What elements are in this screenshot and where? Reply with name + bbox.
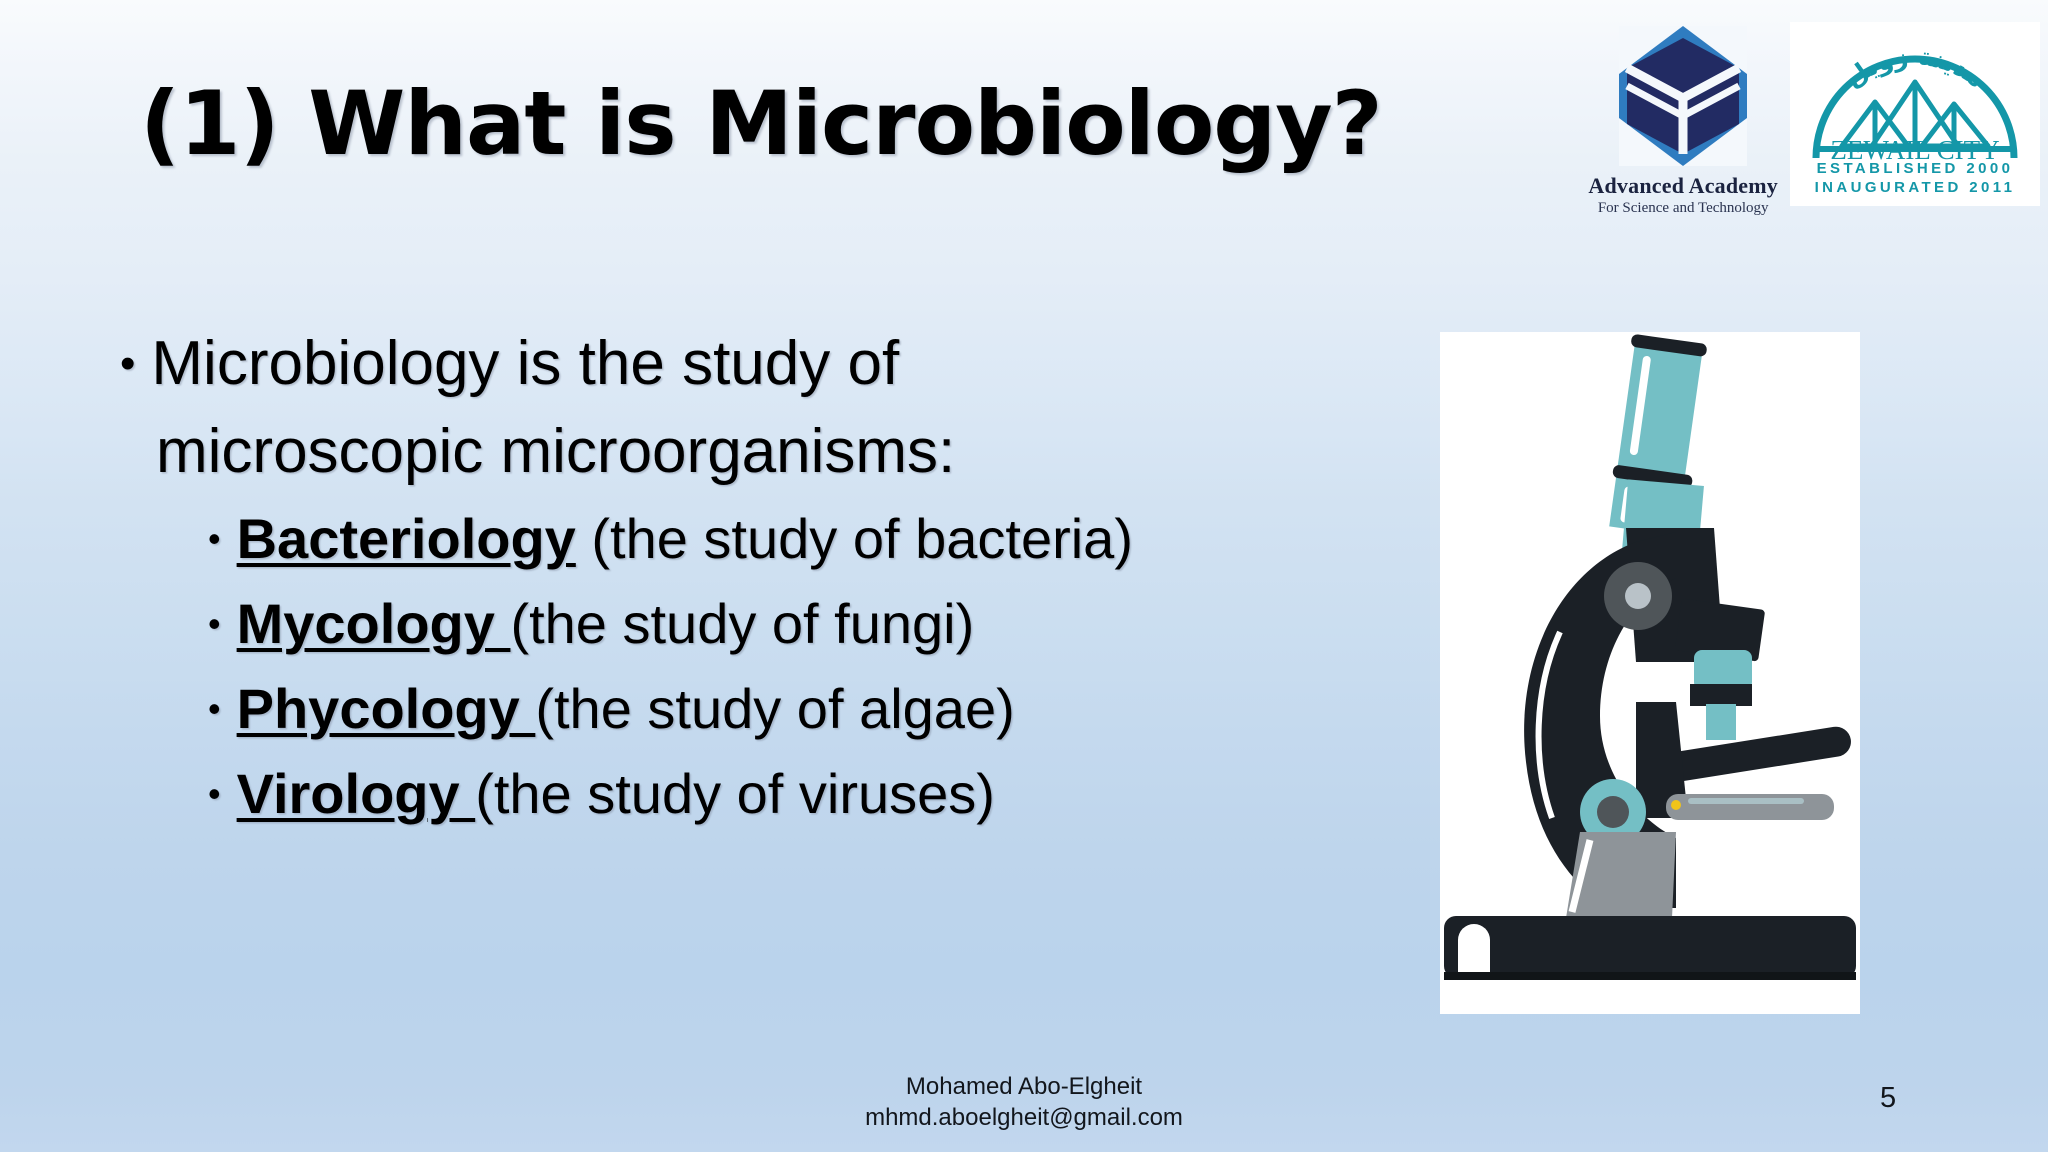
bullet-glyph: • xyxy=(208,776,221,812)
sub-bullet-mycology: • Mycology (the study of fungi) xyxy=(120,581,1410,666)
zewail-city-logo: مدينة زويل ZEWAIL CITY ESTABLISHED 2000 … xyxy=(1790,22,2040,206)
zewail-city-name: ZEWAIL CITY xyxy=(1830,135,1999,160)
microscope-illustration-icon xyxy=(1440,332,1860,1014)
term-phycology: Phycology xyxy=(237,677,536,740)
bullet-glyph: • xyxy=(208,691,221,727)
description-virology: (the study of viruses) xyxy=(475,762,995,825)
advanced-academy-subtitle: For Science and Technology xyxy=(1598,200,1769,217)
advanced-academy-name: Advanced Academy xyxy=(1588,173,1778,199)
footer-author: Mohamed Abo-Elgheit xyxy=(0,1072,2048,1103)
term-bacteriology: Bacteriology xyxy=(237,507,576,570)
content-body: • Microbiology is the study of microscop… xyxy=(120,320,1410,837)
pyramids-arc-logo-icon: مدينة زويل ZEWAIL CITY xyxy=(1802,28,2028,160)
description-bacteriology: (the study of bacteria) xyxy=(576,507,1133,570)
lead-bullet-line2: microscopic microorganisms: xyxy=(120,408,1410,496)
lead-bullet-line1: Microbiology is the study of xyxy=(151,320,899,408)
footer-email: mhmd.aboelgheit@gmail.com xyxy=(0,1103,2048,1134)
description-phycology: (the study of algae) xyxy=(535,677,1014,740)
slide-canvas: (1) What is Microbiology? Advanced Acade… xyxy=(0,0,2048,1152)
advanced-academy-logo: Advanced Academy For Science and Technol… xyxy=(1588,22,1778,217)
description-mycology: (the study of fungi) xyxy=(510,592,974,655)
zewail-inaugurated: INAUGURATED 2011 xyxy=(1815,179,2016,198)
bullet-glyph: • xyxy=(208,521,221,557)
term-mycology: Mycology xyxy=(237,592,511,655)
sub-bullet-phycology: • Phycology (the study of algae) xyxy=(120,666,1410,751)
microscope-image xyxy=(1440,332,1860,1014)
page-title: (1) What is Microbiology? xyxy=(140,78,1300,170)
zewail-established: ESTABLISHED 2000 xyxy=(1817,160,2014,179)
lead-bullet: • Microbiology is the study of xyxy=(120,320,1410,408)
sub-bullet-bacteriology: • Bacteriology (the study of bacteria) xyxy=(120,496,1410,581)
bullet-glyph: • xyxy=(120,342,135,386)
footer: Mohamed Abo-Elgheit mhmd.aboelgheit@gmai… xyxy=(0,1072,2048,1133)
bullet-glyph: • xyxy=(208,606,221,642)
hexagon-cube-logo-icon xyxy=(1615,22,1751,170)
term-virology: Virology xyxy=(237,762,476,825)
page-number: 5 xyxy=(1880,1082,1896,1115)
logo-strip: Advanced Academy For Science and Technol… xyxy=(1588,22,2040,217)
sub-bullet-virology: • Virology (the study of viruses) xyxy=(120,751,1410,836)
